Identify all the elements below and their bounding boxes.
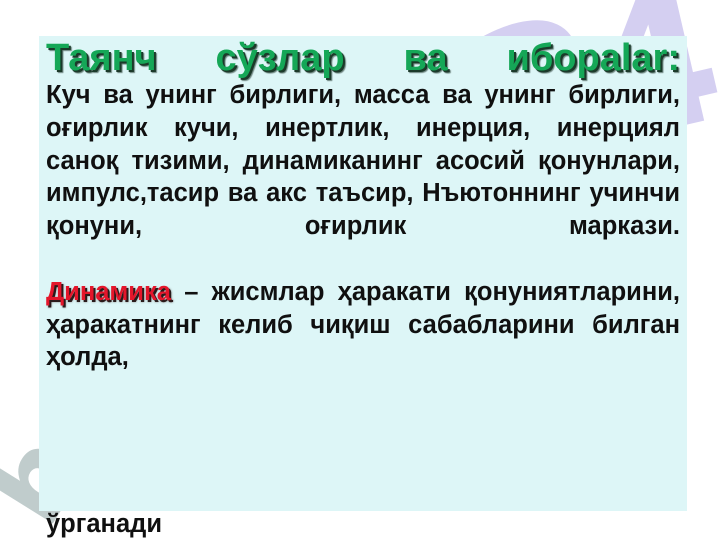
keywords-paragraph: Куч ва унинг бирлиги, масса ва унинг бир…: [46, 79, 680, 243]
definition-keyword: Динамика: [46, 278, 171, 306]
content-box: Таянч сўзлар ва ибораlar: Куч ва унинг б…: [39, 36, 687, 511]
paragraph-spacer: [46, 243, 680, 276]
page-title: Таянч сўзлар ва ибораlar:: [46, 38, 680, 79]
slide-canvas: 24 hujjat.uz Таянч сўзлар ва ибораlar: К…: [0, 0, 720, 540]
definition-paragraph: Динамика – жисмлар ҳаракати қонуниятлари…: [46, 276, 680, 374]
text-stack: Таянч сўзлар ва ибораlar: Куч ва унинг б…: [46, 38, 680, 374]
definition-tail: ўрганади: [46, 510, 162, 538]
overflow-tail-text: ўрганади: [46, 508, 686, 540]
